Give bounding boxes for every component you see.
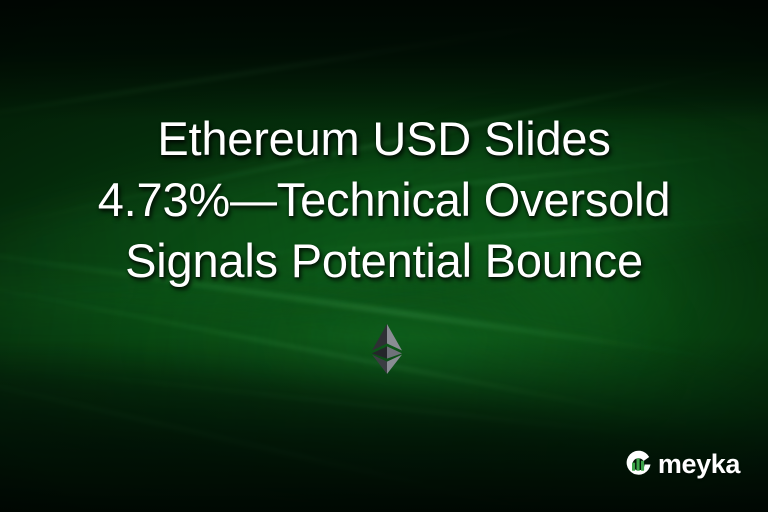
share-card: Ethereum USD Slides 4.73%—Technical Over… bbox=[0, 0, 768, 512]
brand-name: meyka bbox=[658, 451, 740, 478]
headline-title: Ethereum USD Slides 4.73%—Technical Over… bbox=[0, 108, 768, 291]
brand-logo[interactable]: meyka bbox=[623, 449, 740, 480]
ethereum-diamond-icon bbox=[371, 324, 403, 374]
meyka-circle-bars-icon bbox=[623, 449, 654, 480]
